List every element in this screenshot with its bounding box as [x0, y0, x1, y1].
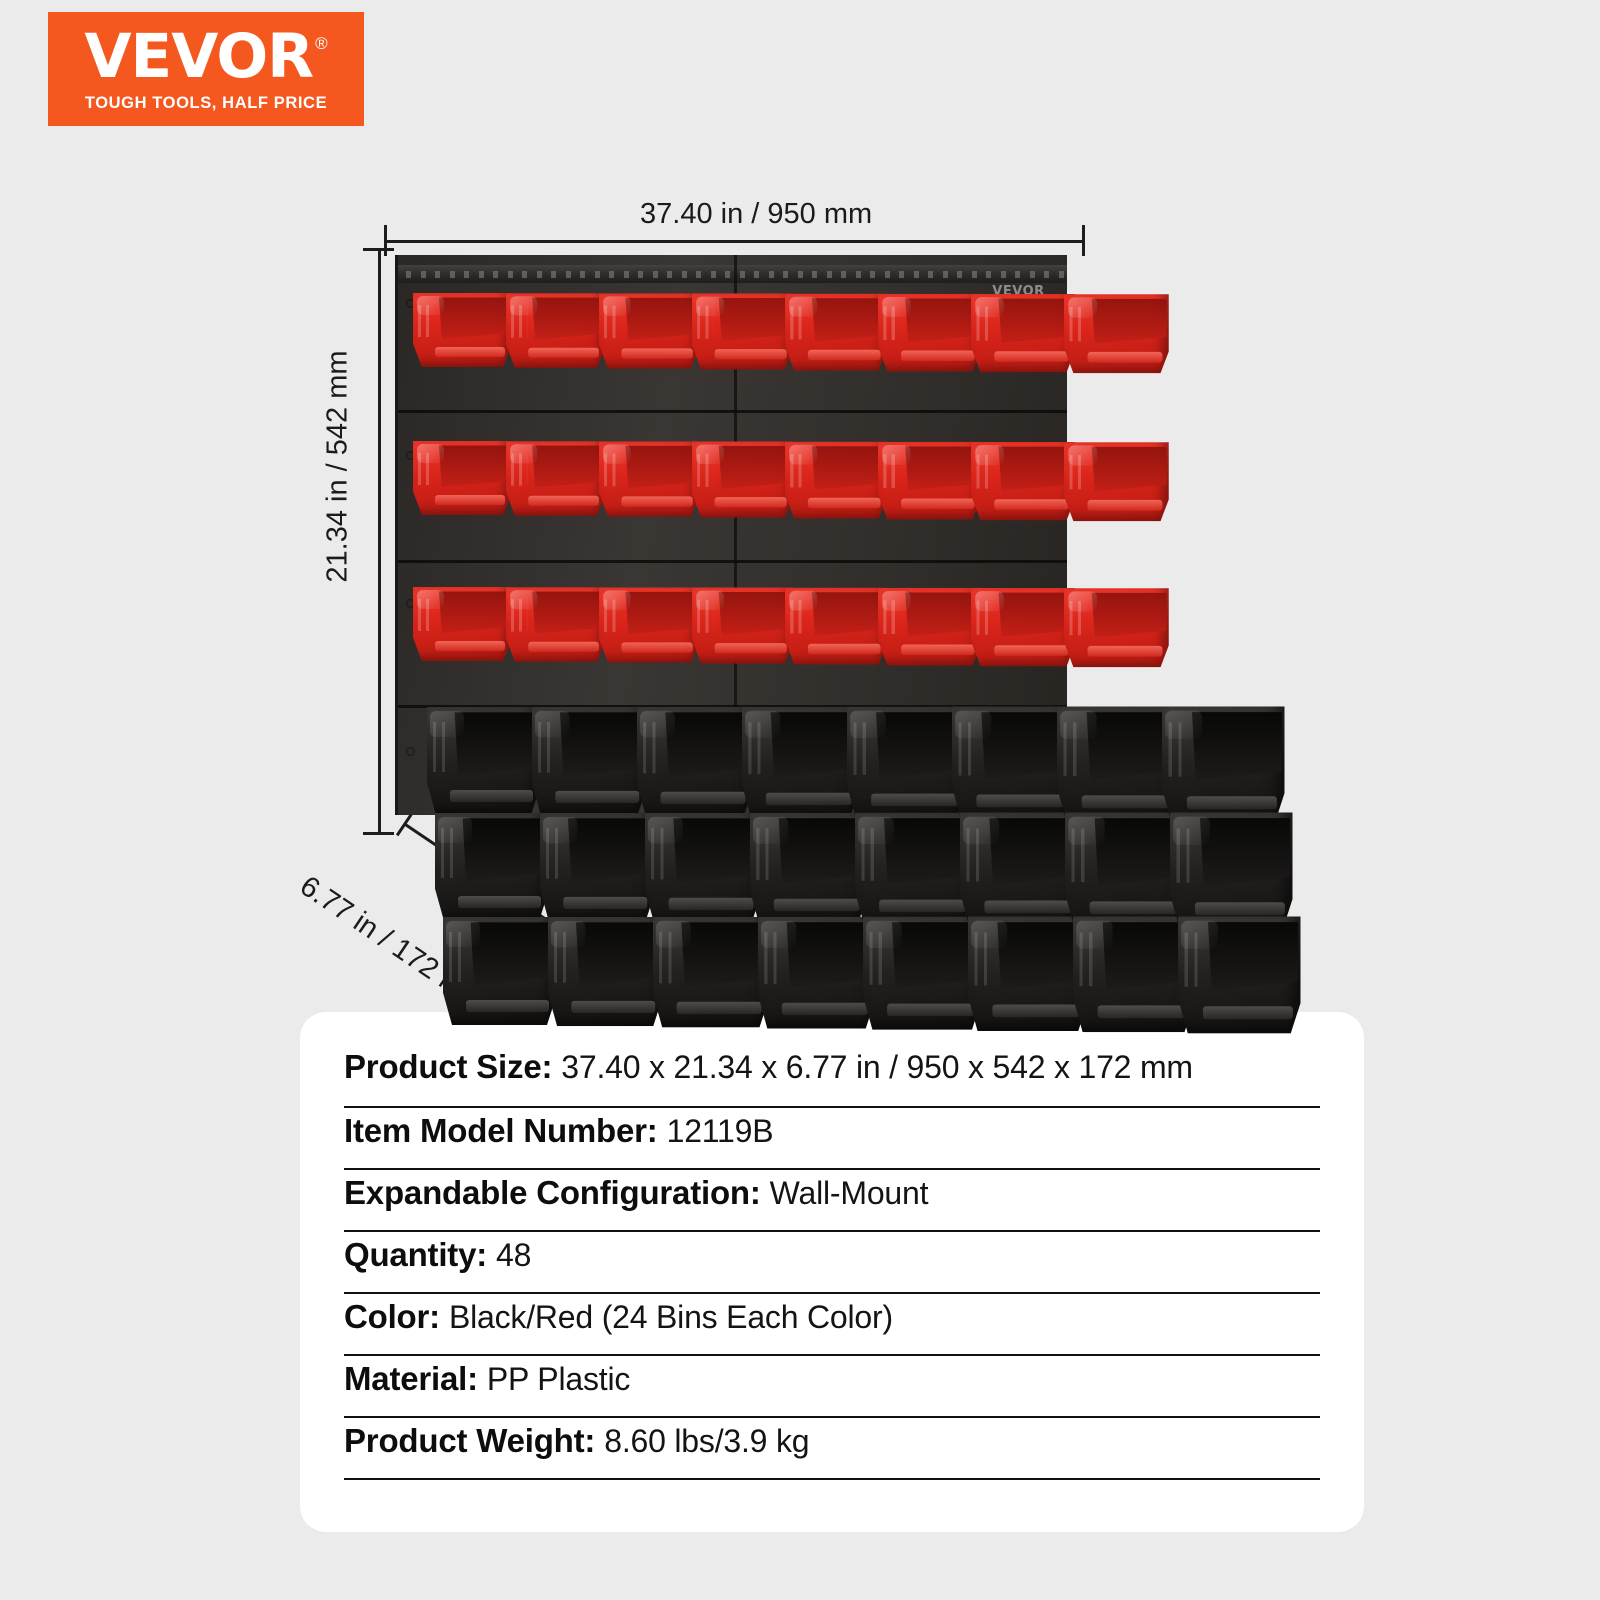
spec-row: Product Size:37.40 x 21.34 x 6.77 in / 9…	[344, 1046, 1320, 1108]
pegboard-slot	[841, 271, 846, 278]
bin-lip	[1194, 902, 1285, 915]
pegboard-slot	[1030, 271, 1035, 278]
pegboard-slot	[595, 271, 600, 278]
dimension-width-label: 37.40 in / 950 mm	[640, 198, 872, 231]
bin-gloss	[603, 296, 631, 316]
storage-bin-red	[971, 442, 1075, 520]
bin-cavity	[996, 922, 1086, 988]
bin-cavity	[531, 592, 603, 634]
bin-lip	[1186, 796, 1277, 809]
bin-cavity	[777, 818, 865, 883]
vevor-logo: VEVOR ® TOUGH TOOLS, HALF PRICE	[48, 12, 364, 126]
storage-bin-red	[506, 441, 605, 516]
bin-gloss	[851, 711, 887, 738]
bin-gloss	[417, 296, 444, 315]
storage-bin-black	[952, 707, 1072, 821]
bin-gloss	[510, 590, 538, 609]
bin-lip	[901, 645, 975, 655]
storage-bin-black	[1057, 706, 1178, 822]
bin-lip	[901, 351, 975, 361]
dimension-height-cap-top	[363, 248, 394, 251]
bin-gloss	[975, 297, 1004, 317]
bin-gloss	[761, 921, 796, 948]
bin-gloss	[656, 921, 691, 948]
pegboard-slot	[464, 271, 469, 278]
storage-bin-black	[540, 813, 654, 922]
bin-gloss	[789, 445, 818, 465]
bin-cavity	[1190, 712, 1282, 780]
bin-lip	[1087, 646, 1162, 656]
pegboard-slot	[914, 271, 919, 278]
pegboard-slot	[508, 271, 513, 278]
bin-gloss	[510, 444, 538, 463]
bin-gloss	[603, 444, 631, 464]
pegboard-slot	[667, 271, 672, 278]
dimension-height-cap-bottom	[363, 832, 394, 835]
bin-lip	[871, 794, 959, 806]
bin-gloss	[972, 921, 1008, 948]
storage-bin-red	[878, 294, 981, 372]
pegboard-slot	[943, 271, 948, 278]
bin-lip	[676, 1002, 762, 1014]
spec-label: Material:	[344, 1360, 478, 1398]
bin-lip	[660, 792, 746, 804]
bin-lip	[668, 898, 754, 910]
bin-lip	[1087, 352, 1162, 362]
storage-bin-black	[960, 813, 1080, 927]
storage-bin-red	[692, 587, 793, 663]
spec-label: Color:	[344, 1298, 440, 1336]
bin-cavity	[672, 818, 759, 882]
bin-lip	[1097, 1006, 1187, 1019]
pegboard-slot	[566, 271, 571, 278]
bin-cavity	[1090, 447, 1167, 491]
storage-bin-red	[1064, 588, 1169, 667]
bin-lip	[435, 495, 506, 505]
storage-bin-black	[532, 707, 646, 816]
bin-gloss	[789, 591, 818, 611]
bin-gloss	[753, 817, 788, 844]
pegboard-slot	[580, 271, 585, 278]
spec-row: Color:Black/Red (24 Bins Each Color)	[344, 1294, 1320, 1356]
bin-gloss	[696, 591, 724, 611]
pegboard-slot	[870, 271, 875, 278]
bin-cavity	[680, 922, 767, 986]
dimension-width-line	[384, 240, 1084, 243]
bin-lip	[621, 496, 693, 506]
bin-lip	[450, 790, 534, 802]
pegboard-slot	[928, 271, 933, 278]
pegboard-slot	[638, 271, 643, 278]
bin-lip	[714, 497, 787, 507]
storage-bin-black	[548, 917, 662, 1026]
bin-lip	[887, 1004, 975, 1016]
spec-value: Wall-Mount	[770, 1175, 929, 1212]
bin-cavity	[624, 298, 697, 340]
bin-gloss	[975, 591, 1004, 611]
bin-gloss	[1069, 817, 1105, 845]
bin-gloss	[1174, 817, 1211, 845]
bin-lip	[621, 348, 693, 358]
pegboard-slot	[624, 271, 629, 278]
bin-gloss	[1182, 921, 1219, 949]
bin-lip	[571, 1001, 656, 1013]
storage-bin-red	[1064, 294, 1169, 373]
pegboard-screw	[406, 747, 415, 756]
spec-value: PP Plastic	[487, 1361, 630, 1398]
bin-cavity	[461, 818, 546, 881]
bin-gloss	[1068, 591, 1097, 612]
bin-gloss	[430, 711, 464, 737]
pegboard-slot	[754, 271, 759, 278]
pegboard-slot	[798, 271, 803, 278]
bin-gloss	[975, 445, 1004, 465]
product-figure: 37.40 in / 950 mm 21.34 in / 542 mm 6.77…	[300, 170, 1280, 1000]
storage-bin-red	[599, 293, 699, 368]
pegboard-slot	[450, 271, 455, 278]
storage-bin-red	[785, 588, 887, 665]
bin-gloss	[510, 296, 538, 315]
bin-lip	[807, 350, 880, 360]
bin-cavity	[988, 818, 1078, 884]
bin-lip	[765, 793, 852, 805]
bin-cavity	[624, 446, 697, 488]
storage-bin-black	[1170, 812, 1292, 929]
bin-lip	[563, 897, 648, 909]
pegboard-slot	[421, 271, 426, 278]
bin-lip	[901, 499, 975, 509]
bin-cavity	[531, 298, 603, 340]
pegboard-slot	[769, 271, 774, 278]
pegboard-slot	[812, 271, 817, 278]
bin-lip	[458, 896, 542, 908]
bin-row-black-2	[435, 813, 1275, 921]
bin-lip	[773, 899, 860, 911]
storage-bin-red	[413, 293, 511, 367]
pegboard-slot	[653, 271, 658, 278]
storage-bin-black	[1073, 916, 1194, 1032]
bin-row-black-1	[427, 707, 1267, 815]
logo-tagline: TOUGH TOOLS, HALF PRICE	[85, 94, 327, 113]
dimension-width-cap-right	[1082, 225, 1085, 256]
pegboard-slot	[740, 271, 745, 278]
bin-lip	[714, 349, 787, 359]
bin-lip	[435, 347, 506, 357]
bin-gloss	[964, 817, 1000, 844]
bin-row-black-3	[443, 917, 1283, 1025]
bin-cavity	[531, 446, 603, 488]
spec-value: 48	[496, 1237, 531, 1274]
bin-lip	[528, 348, 599, 358]
bin-lip	[994, 351, 1069, 361]
storage-bin-red	[692, 441, 793, 517]
registered-trademark-icon: ®	[315, 35, 328, 52]
bin-cavity	[717, 298, 791, 341]
bin-cavity	[785, 922, 873, 987]
bin-gloss	[696, 445, 724, 465]
bin-cavity	[469, 922, 554, 985]
bin-lip	[714, 643, 787, 653]
bin-gloss	[1166, 711, 1203, 739]
storage-bin-black	[847, 707, 965, 820]
storage-bin-red	[599, 587, 699, 662]
bin-gloss	[417, 444, 444, 463]
bin-gloss	[696, 297, 724, 317]
bin-gloss	[745, 711, 780, 738]
bin-cavity	[769, 712, 857, 777]
bin-cavity	[438, 445, 510, 486]
bin-lip	[1087, 500, 1162, 510]
bin-cavity	[1198, 818, 1290, 886]
bin-gloss	[438, 817, 472, 843]
storage-bin-black	[855, 813, 973, 926]
bin-lip	[1081, 796, 1171, 809]
pegboard-seam	[398, 410, 1067, 413]
dimension-width-cap-left	[384, 225, 387, 256]
bin-cavity	[810, 298, 884, 341]
spec-value: 8.60 lbs/3.9 kg	[604, 1423, 809, 1460]
bin-lip	[621, 642, 693, 652]
bin-cavity	[882, 818, 971, 884]
bin-cavity	[558, 712, 644, 775]
pegboard-hook-strip	[398, 265, 1067, 283]
pegboard-slot	[522, 271, 527, 278]
bin-gloss	[859, 817, 895, 844]
bin-lip	[1202, 1006, 1293, 1019]
storage-bin-black	[742, 707, 859, 819]
spec-value: Black/Red (24 Bins Each Color)	[449, 1299, 893, 1336]
storage-bin-black	[443, 917, 556, 1025]
bin-cavity	[980, 712, 1070, 778]
bin-lip	[994, 645, 1069, 655]
dimension-height-label: 21.34 in / 542 mm	[322, 350, 355, 582]
storage-bin-red	[971, 294, 1075, 372]
bin-lip	[984, 901, 1073, 914]
spec-label: Product Size:	[344, 1048, 552, 1086]
bin-cavity	[810, 446, 884, 489]
storage-bin-black	[645, 813, 761, 924]
bin-cavity	[1090, 299, 1167, 343]
storage-bin-black	[427, 707, 540, 815]
pegboard-slot	[696, 271, 701, 278]
bin-gloss	[446, 921, 480, 947]
pegboard-slot	[435, 271, 440, 278]
bin-lip	[435, 641, 506, 651]
bin-cavity	[453, 712, 538, 775]
storage-bin-black	[1065, 812, 1186, 928]
bin-lip	[466, 1000, 550, 1012]
pegboard-slot	[493, 271, 498, 278]
bin-cavity	[810, 592, 884, 635]
bin-cavity	[566, 818, 652, 881]
bin-cavity	[997, 447, 1073, 491]
bin-gloss	[648, 817, 683, 844]
bin-cavity	[997, 299, 1073, 343]
bin-cavity	[438, 591, 510, 632]
bin-cavity	[438, 297, 510, 338]
bin-lip	[528, 642, 599, 652]
storage-bin-red	[878, 442, 981, 520]
pegboard-slot	[711, 271, 716, 278]
pegboard-slot	[1001, 271, 1006, 278]
storage-bin-black	[863, 917, 981, 1030]
bin-gloss	[535, 711, 569, 737]
bin-lip	[992, 1005, 1081, 1018]
pegboard-slot	[972, 271, 977, 278]
bin-gloss	[543, 817, 577, 843]
product-spec-page: VEVOR ® TOUGH TOOLS, HALF PRICE 37.40 in…	[0, 0, 1600, 1600]
bin-cavity	[717, 592, 791, 635]
storage-bin-red	[785, 294, 887, 371]
bin-cavity	[874, 712, 963, 778]
pegboard-slot	[885, 271, 890, 278]
bin-lip	[807, 644, 880, 654]
storage-bin-black	[653, 917, 769, 1028]
pegboard-slot	[986, 271, 991, 278]
bin-cavity	[997, 593, 1073, 637]
bin-row-red-3	[413, 587, 1157, 661]
spec-row: Material:PP Plastic	[344, 1356, 1320, 1418]
storage-bin-black	[1162, 706, 1284, 823]
storage-bin-red	[692, 293, 793, 369]
storage-bin-black	[758, 917, 875, 1029]
storage-bin-black	[968, 917, 1088, 1031]
bin-gloss	[882, 297, 911, 317]
bin-gloss	[882, 445, 911, 465]
pegboard-slot	[856, 271, 861, 278]
storage-bin-black	[750, 813, 867, 925]
bin-lip	[555, 791, 640, 803]
pegboard-slot	[899, 271, 904, 278]
bin-gloss	[640, 711, 675, 738]
pegboard-slot	[725, 271, 730, 278]
spec-label: Item Model Number:	[344, 1112, 658, 1150]
spec-value: 37.40 x 21.34 x 6.77 in / 950 x 542 x 17…	[561, 1049, 1193, 1086]
bin-gloss	[551, 921, 585, 947]
bin-gloss	[1061, 711, 1097, 739]
bin-gloss	[867, 921, 903, 948]
bin-row-red-2	[413, 441, 1157, 515]
bin-row-red-1	[413, 293, 1157, 367]
storage-bin-black	[637, 707, 753, 818]
bin-lip	[1089, 902, 1179, 915]
bin-gloss	[1068, 445, 1097, 466]
logo-wordmark-row: VEVOR ®	[84, 29, 327, 85]
pegboard-slot	[406, 271, 411, 278]
bin-cavity	[904, 592, 979, 636]
spec-row: Product Weight:8.60 lbs/3.9 kg	[344, 1418, 1320, 1480]
pegboard-slot	[551, 271, 556, 278]
bin-lip	[781, 1003, 868, 1015]
pegboard-slot	[783, 271, 788, 278]
pegboard-slot	[479, 271, 484, 278]
storage-bin-red	[971, 588, 1075, 666]
storage-bin-black	[435, 813, 548, 921]
dimension-height-line	[378, 248, 381, 834]
bin-cavity	[574, 922, 660, 985]
bin-cavity	[1090, 593, 1167, 637]
bin-lip	[879, 900, 967, 912]
bin-gloss	[603, 590, 631, 610]
bin-cavity	[890, 922, 979, 988]
bin-gloss	[417, 590, 444, 609]
bin-gloss	[882, 591, 911, 611]
pegboard-slot	[609, 271, 614, 278]
pegboard-slot	[537, 271, 542, 278]
pegboard-slot	[957, 271, 962, 278]
spec-label: Quantity:	[344, 1236, 487, 1274]
bin-gloss	[789, 297, 818, 317]
spec-row: Expandable Configuration:Wall-Mount	[344, 1170, 1320, 1232]
spec-value: 12119B	[667, 1113, 774, 1150]
pegboard-slot	[1059, 271, 1064, 278]
bin-lip	[807, 498, 880, 508]
bin-cavity	[1206, 922, 1298, 990]
pegboard-slot	[1015, 271, 1020, 278]
logo-wordmark: VEVOR	[84, 29, 313, 85]
storage-bin-rack: VEVOR TOUGH TOOLS, HALF PRICE	[395, 255, 1085, 945]
bin-gloss	[1068, 297, 1097, 318]
storage-bin-red	[413, 441, 511, 515]
bin-lip	[994, 499, 1069, 509]
bin-gloss	[1077, 921, 1113, 949]
pegboard-slot	[1044, 271, 1049, 278]
bin-lip	[528, 496, 599, 506]
storage-bin-red	[1064, 442, 1169, 521]
pegboard-slot	[682, 271, 687, 278]
bin-cavity	[717, 446, 791, 489]
pegboard-seam	[398, 560, 1067, 563]
pegboard-slot	[827, 271, 832, 278]
storage-bin-red	[785, 442, 887, 519]
bin-lip	[976, 795, 1065, 808]
bin-cavity	[664, 712, 751, 776]
spec-row: Item Model Number:12119B	[344, 1108, 1320, 1170]
storage-bin-red	[413, 587, 511, 661]
storage-bin-red	[878, 588, 981, 666]
storage-bin-black	[1178, 916, 1300, 1033]
storage-bin-red	[506, 293, 605, 368]
bin-gloss	[956, 711, 992, 738]
storage-bin-red	[599, 441, 699, 516]
bin-cavity	[624, 592, 697, 634]
specification-card: Product Size:37.40 x 21.34 x 6.77 in / 9…	[300, 1012, 1364, 1532]
bin-cavity	[904, 298, 979, 342]
spec-label: Product Weight:	[344, 1422, 595, 1460]
spec-label: Expandable Configuration:	[344, 1174, 761, 1212]
spec-row: Quantity:48	[344, 1232, 1320, 1294]
storage-bin-red	[506, 587, 605, 662]
bin-cavity	[904, 446, 979, 490]
